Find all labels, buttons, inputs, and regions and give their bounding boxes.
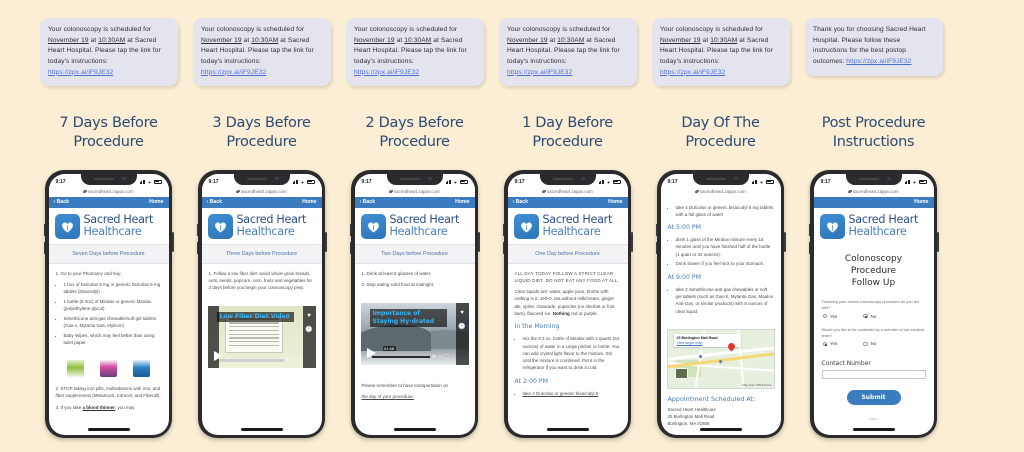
instructions-body-2: 2. STOP taking iron pills, multivitamins… (49, 385, 169, 419)
signal-icon (599, 180, 605, 184)
radio-button-selected[interactable] (863, 314, 868, 319)
brand-line-2: Healthcare (84, 226, 154, 238)
phone-screen-3: 9:17 sacredheart.zappx.com ‹ Back Home (355, 174, 475, 435)
video-side-controls[interactable]: ♥ 🕐 (303, 306, 316, 368)
phone-mockup-1: 9:17 sacredheart.zappx.com ‹ Back Home (45, 170, 172, 438)
home-indicator (700, 428, 742, 431)
supplies-list: 1 box of Dulcolax 5 mg or generic Dulcol… (64, 281, 162, 346)
phone-notch (81, 174, 137, 185)
product-image-miralax (133, 360, 150, 377)
q1-option-yes[interactable]: Yes (823, 314, 838, 319)
battery-icon (460, 180, 468, 184)
q2-option-no[interactable]: No (863, 341, 876, 346)
sms-line-4: Hospital. Please tap the link (67, 47, 151, 54)
q1-no-label: No (871, 314, 877, 319)
sms-line-4: Hospital. Please tap the link (220, 47, 304, 54)
favorite-heart-icon[interactable]: ♥ (305, 311, 314, 320)
sms-bubble: Your colonoscopy is scheduled for Novemb… (193, 18, 331, 86)
sms-line-4: Hospital. Please tap the link (526, 47, 610, 54)
heart-logo-icon (208, 214, 233, 239)
sms-link[interactable]: https://zpx.ai/iF9JE32 (846, 57, 911, 68)
sms-time: 10:30AM (710, 37, 737, 44)
back-button[interactable]: ‹ Back (54, 199, 70, 205)
caption-7-days: 7 Days Before Procedure (32, 114, 185, 152)
step-2: 2. Stop eating solid food at midnight. (362, 281, 468, 288)
column-2-days: Your colonoscopy is scheduled for Novemb… (338, 0, 491, 452)
url-text: sacredheart.zappx.com (547, 189, 593, 194)
caption-line-2: Procedure (491, 133, 644, 152)
step-1: 1. Drink at least 8 glasses of water. (362, 270, 468, 277)
q2-yes-label: Yes (830, 341, 837, 346)
step-2: 2. STOP taking iron pills, multivitamins… (56, 385, 162, 400)
instructions-body: 1. Follow a low fiber diet: avoid whole … (202, 264, 322, 300)
phone-notch (846, 174, 902, 185)
browser-url-bar[interactable]: sacredheart.zappx.com (49, 187, 169, 197)
product-images (49, 354, 169, 385)
signal-icon (293, 180, 299, 184)
video-player-low-fiber[interactable]: Low Fiber Diet Video ♥ 🕐 ⚙ ▭ ⛶ (208, 306, 316, 368)
list-item: 1 box of Dulcolax 5 mg or generic Dulcol… (64, 281, 162, 296)
caption-day-of: Day Of The Procedure (644, 114, 797, 152)
sms-line-2-pre: scheduled for (263, 26, 304, 33)
back-button[interactable]: ‹ Back (513, 199, 529, 205)
wifi-icon (453, 180, 458, 184)
sms-date: November 19 (507, 37, 548, 44)
sms-bubble-wrapper: Thank you for choosing Sacred Heart Hosp… (805, 18, 943, 76)
lock-icon (542, 190, 545, 193)
map-embed[interactable]: 25 Burlington Mall Road View larger map … (667, 329, 775, 389)
home-indicator (88, 428, 130, 431)
sms-bubble-wrapper: Your colonoscopy is scheduled for Novemb… (652, 18, 790, 86)
home-button[interactable]: Home (914, 199, 928, 205)
product-image-simethicone (100, 360, 117, 377)
instructions-body: 1. Drink at least 8 glasses of water. 2.… (355, 264, 475, 297)
home-button[interactable]: Home (302, 199, 316, 205)
brand-header: Sacred Heart Healthcare (508, 208, 628, 244)
video-title: Low Fiber Diet Video (217, 312, 294, 322)
clear-liquid-paragraph: Clear liquids are: water, apple juice, b… (515, 288, 621, 317)
sms-time: 10:30AM (251, 37, 278, 44)
brand-header: Sacred Heart Healthcare (202, 208, 322, 244)
caption-line-1: 7 Days Before (32, 114, 185, 133)
sms-line-3: Please follow these (842, 37, 901, 44)
caption-line-1: Post Procedure (797, 114, 950, 133)
status-time: 9:17 (56, 179, 66, 185)
wifi-icon (759, 180, 764, 184)
sms-bubble-wrapper: Your colonoscopy is scheduled for Novemb… (193, 18, 331, 86)
caption-post-procedure: Post Procedure Instructions (797, 114, 950, 152)
section-title: Seven Days before Procedure (49, 244, 169, 264)
phone-screen-4: 9:17 sacredheart.zappx.com ‹ Back Home (508, 174, 628, 435)
sms-time: 10:30AM (404, 37, 431, 44)
lock-icon (236, 190, 239, 193)
video-player-hydration[interactable]: Importance of Staying Hy-drated ♥ 🕐 01:4… (361, 303, 469, 365)
watch-later-clock-icon[interactable]: 🕐 (458, 322, 467, 331)
browser-url-bar[interactable]: sacredheart.zappx.com (508, 187, 628, 197)
list-item: take 4 Dulcolax or generic bisacodyl 5 m… (676, 204, 774, 219)
sms-line-2-pre: scheduled for (722, 26, 763, 33)
map-poi-dot (699, 355, 703, 359)
sms-date: November 19 (660, 37, 701, 44)
home-button[interactable]: Home (149, 199, 163, 205)
video-side-controls[interactable]: ♥ 🕐 (456, 303, 469, 365)
sms-bubble: Your colonoscopy is scheduled for Novemb… (652, 18, 790, 86)
browser-url-bar[interactable]: sacredheart.zappx.com (661, 187, 781, 197)
video-progress-bar[interactable] (372, 356, 430, 358)
map-street-view-thumbnail[interactable] (675, 368, 688, 379)
sms-link[interactable]: https://zpx.ai/iF9JE32 (354, 68, 419, 79)
phone-mockup-2: 9:17 sacredheart.zappx.com ‹ Back Home (198, 170, 325, 438)
transport-note-line-1: Please remember to have transportation o… (362, 382, 468, 389)
question-1-text: Following your recent colonoscopy proced… (822, 299, 926, 311)
sms-line-4: instructions for the best (813, 47, 884, 54)
sms-time: 10:30AM (98, 37, 125, 44)
brand-line-2: Healthcare (543, 226, 613, 238)
top-list: take 4 Dulcolax or generic bisacodyl 5 m… (676, 204, 774, 219)
cast-icon[interactable]: ▭ (438, 354, 443, 360)
sms-line-1: Thank you for choosing (813, 26, 884, 33)
transport-note: Please remember to have transportation o… (355, 372, 475, 409)
list-item: take 4 Dulcolax or generic bisacodyl 5 (523, 390, 621, 397)
question-2-options[interactable]: Yes No (822, 341, 926, 346)
home-button[interactable]: Home (608, 199, 622, 205)
heart-logo-icon (514, 214, 539, 239)
caption-1-day: 1 Day Before Procedure (491, 114, 644, 152)
q2-no-label: No (871, 341, 877, 346)
battery-icon (307, 180, 315, 184)
home-indicator (241, 428, 283, 431)
phone-mockup-3: 9:17 sacredheart.zappx.com ‹ Back Home (351, 170, 478, 438)
url-text: sacredheart.zappx.com (700, 189, 746, 194)
radio-button[interactable] (863, 342, 868, 347)
brand-header: Sacred Heart Healthcare (814, 208, 934, 244)
cast-icon[interactable]: ▭ (292, 357, 297, 363)
q1-yes-label: Yes (830, 314, 837, 319)
contact-number-input[interactable] (822, 370, 926, 379)
heading-at-9pm: At 9:00 PM (668, 273, 774, 283)
column-3-days: Your colonoscopy is scheduled for Novemb… (185, 0, 338, 452)
heading-at-2pm: At 2:00 PM (515, 377, 621, 387)
lock-icon (695, 190, 698, 193)
q1-option-no[interactable]: No (863, 314, 876, 319)
sms-line-1: Your colonoscopy is (201, 26, 261, 33)
caption-2-days: 2 Days Before Procedure (338, 114, 491, 152)
battery-icon (613, 180, 621, 184)
video-timestamp: 01:48 (383, 346, 396, 351)
caption-line-2: Procedure (32, 133, 185, 152)
list-item: mix the 8.3 oz. bottle of Miralax with 2… (523, 335, 621, 371)
status-time: 9:17 (821, 179, 831, 185)
column-1-day: Your colonoscopy is scheduled for Novemb… (491, 0, 644, 452)
sms-line-4: Hospital. Please tap the link (373, 47, 457, 54)
instructions-body: 1. Go to your Pharmacy and buy: 1 box of… (49, 264, 169, 355)
phone-mockup-4: 9:17 sacredheart.zappx.com ‹ Back Home (504, 170, 631, 438)
sms-line-1: Your colonoscopy is (48, 26, 108, 33)
form-title-line-2: Follow Up (822, 277, 926, 289)
phone-screen-6: 9:17 sacredheart.zappx.com Home (814, 174, 934, 435)
clear-liquid-warning: ALL DAY TODAY FOLLOW A STRICT CLEAR LIQU… (515, 270, 621, 285)
sms-bubble: Your colonoscopy is scheduled for Novemb… (499, 18, 637, 86)
list-item: 1 bottle (8.3oz) of Miralax or generic M… (64, 298, 162, 313)
caption-line-2: Procedure (644, 133, 797, 152)
map-attribution: Map data ©2019 Terms (742, 383, 771, 387)
heart-logo-icon (820, 214, 845, 239)
battery-icon (766, 180, 774, 184)
transport-note-line-2: the day of your procedure. (362, 393, 468, 400)
instructions-body: take 4 Dulcolax or generic bisacodyl 5 m… (661, 197, 781, 323)
sms-bubble: Your colonoscopy is scheduled for Novemb… (346, 18, 484, 86)
instructions-body: ALL DAY TODAY FOLLOW A STRICT CLEAR LIQU… (508, 264, 628, 405)
question-2: Would you like to be contacted by a memb… (814, 327, 934, 347)
caption-line-1: 1 Day Before (491, 114, 644, 133)
back-button[interactable]: ‹ Back (207, 199, 223, 205)
sms-link[interactable]: https://zpx.ai/iF9JE32 (48, 68, 113, 79)
phone-notch (693, 174, 749, 185)
sms-link[interactable]: https://zpx.ai/iF9JE32 (507, 68, 572, 79)
caption-line-2: Procedure (185, 133, 338, 152)
nine-pm-list: take 2 Simethicone anti-gas chewables or… (676, 286, 774, 315)
blood-thinner-link[interactable]: a blood thinner (83, 405, 116, 410)
app-nav-bar: ‹ Back Home (49, 197, 169, 208)
caption-line-2: Procedure (338, 133, 491, 152)
list-item: Drink slower if you feel sick to your st… (676, 260, 774, 267)
caption-line-2: Instructions (797, 133, 950, 152)
sms-line-2-pre: scheduled for (416, 26, 457, 33)
sms-line-2-pre: scheduled for (569, 26, 610, 33)
sms-line-4: Hospital. Please tap the link (679, 47, 763, 54)
status-time: 9:17 (362, 179, 372, 185)
question-2-text: Would you like to be contacted by a memb… (822, 327, 926, 339)
home-button[interactable]: Home (455, 199, 469, 205)
question-1: Following your recent colonoscopy proced… (814, 299, 934, 319)
list-item: take 2 Simethicone anti-gas chewables or… (676, 286, 774, 315)
more-options-icon[interactable]: ⋮ (451, 354, 456, 360)
app-nav-bar: ‹ Back Home (355, 197, 475, 208)
contact-number-label: Contact Number (814, 354, 934, 370)
step-1: 1. Go to your Pharmacy and buy: (56, 270, 162, 277)
sms-bubble-wrapper: Your colonoscopy is scheduled for Novemb… (40, 18, 178, 86)
url-text: sacredheart.zappx.com (394, 189, 440, 194)
sms-date: November 19 (354, 37, 395, 44)
step-3: 3. If you take a blood thinner, you may (56, 404, 162, 411)
list-item: Simethicone anti-gas chewable/soft gel t… (64, 315, 162, 330)
q2-option-yes[interactable]: Yes (823, 341, 838, 346)
wifi-icon (606, 180, 611, 184)
phone-notch (234, 174, 290, 185)
fullscreen-icon[interactable]: ⛶ (299, 357, 303, 363)
form-title-line-1: Colonoscopy Procedure (822, 253, 926, 277)
sms-bubble-wrapper: Your colonoscopy is scheduled for Novemb… (346, 18, 484, 86)
url-text: sacredheart.zappx.com (853, 189, 899, 194)
phone-mockup-6: 9:17 sacredheart.zappx.com Home (810, 170, 937, 438)
question-1-options[interactable]: Yes No (822, 314, 926, 319)
morning-list: mix the 8.3 oz. bottle of Miralax with 2… (523, 335, 621, 371)
afternoon-list: take 4 Dulcolax or generic bisacodyl 5 (523, 390, 621, 397)
sms-date: November 19 (201, 37, 242, 44)
sms-date: November 19 (48, 37, 89, 44)
home-indicator (853, 428, 895, 431)
brand-header: Sacred Heart Healthcare (49, 208, 169, 244)
radio-button[interactable] (823, 314, 828, 319)
section-title: Two Days before Procedure (355, 244, 475, 264)
caption-3-days: 3 Days Before Procedure (185, 114, 338, 152)
settings-gear-icon[interactable]: ⚙ (432, 354, 436, 360)
heading-at-5pm: At 5:00 PM (668, 223, 774, 233)
phone-screen-5: 9:17 sacredheart.zappx.com take 4 Dulcol… (661, 174, 781, 435)
step-1: 1. Follow a low fiber diet: avoid whole … (209, 270, 315, 292)
appointment-facility: Sacred Heart Healthcare (668, 406, 774, 413)
phone-notch (387, 174, 443, 185)
lock-icon (83, 190, 86, 193)
sms-line-1: Your colonoscopy is (354, 26, 414, 33)
radio-button-selected[interactable] (823, 342, 828, 347)
sms-bubble-wrapper: Your colonoscopy is scheduled for Novemb… (499, 18, 637, 86)
battery-icon (919, 180, 927, 184)
settings-gear-icon[interactable]: ⚙ (286, 357, 290, 363)
phone-screen-1: 9:17 sacredheart.zappx.com ‹ Back Home (49, 174, 169, 435)
phone-mockup-5: 9:17 sacredheart.zappx.com take 4 Dulcol… (657, 170, 784, 438)
phone-notch (540, 174, 596, 185)
appointment-city: Burlington, MA 01805 (668, 420, 774, 427)
wifi-icon (147, 180, 152, 184)
zappx-footer-logo: zappx (814, 417, 934, 421)
sms-bubble: Thank you for choosing Sacred Heart Hosp… (805, 18, 943, 76)
signal-icon (752, 180, 758, 184)
list-item: Baby Wipes, which may feel better than u… (64, 332, 162, 347)
browser-url-bar[interactable]: sacredheart.zappx.com (202, 187, 322, 197)
list-item: drink 1 glass of the Miralax mixture eve… (676, 236, 774, 258)
browser-url-bar[interactable]: sacredheart.zappx.com (814, 187, 934, 197)
battery-icon (154, 180, 162, 184)
product-image-dulcolax (67, 360, 84, 377)
column-day-of: Your colonoscopy is scheduled for Novemb… (644, 0, 797, 452)
browser-url-bar[interactable]: sacredheart.zappx.com (355, 187, 475, 197)
sms-line-1: Your colonoscopy is (660, 26, 720, 33)
heart-logo-icon (55, 214, 80, 239)
brand-line-2: Healthcare (390, 226, 460, 238)
signal-icon (140, 180, 146, 184)
poster-canvas: Your colonoscopy is scheduled for Novemb… (0, 0, 1024, 452)
sms-link[interactable]: https://zpx.ai/iF9JE32 (201, 68, 266, 79)
wifi-icon (912, 180, 917, 184)
sms-link[interactable]: https://zpx.ai/iF9JE32 (660, 68, 725, 79)
video-controls[interactable]: ⚙ ▭ ⛶ (219, 357, 303, 363)
home-indicator (547, 428, 589, 431)
caption-line-1: 2 Days Before (338, 114, 491, 133)
brand-line-2: Healthcare (237, 226, 307, 238)
appointment-heading: Appointment Scheduled At: (668, 395, 774, 403)
section-title: One Day before Procedure (508, 244, 628, 264)
heading-in-the-morning: In the Morning (515, 322, 621, 332)
form-title: Colonoscopy Procedure Follow Up (814, 244, 934, 299)
video-title: Importance of Staying Hy-drated (370, 309, 447, 327)
heart-logo-icon (361, 214, 386, 239)
app-nav-bar: Home (814, 197, 934, 208)
app-nav-bar: ‹ Back Home (202, 197, 322, 208)
column-post-procedure: Thank you for choosing Sacred Heart Hosp… (797, 0, 950, 452)
brand-header: Sacred Heart Healthcare (355, 208, 475, 244)
status-time: 9:17 (668, 179, 678, 185)
url-text: sacredheart.zappx.com (88, 189, 134, 194)
app-nav-bar: ‹ Back Home (508, 197, 628, 208)
appointment-block: Appointment Scheduled At: Sacred Heart H… (661, 389, 781, 430)
phone-screen-2: 9:17 sacredheart.zappx.com ‹ Back Home (202, 174, 322, 435)
watch-later-clock-icon[interactable]: 🕐 (305, 325, 314, 334)
signal-icon (905, 180, 911, 184)
sms-bubble: Your colonoscopy is scheduled for Novemb… (40, 18, 178, 86)
url-text: sacredheart.zappx.com (241, 189, 287, 194)
submit-button[interactable]: Submit (847, 390, 901, 404)
video-progress-bar[interactable] (219, 359, 284, 361)
lock-icon (848, 190, 851, 193)
status-time: 9:17 (209, 179, 219, 185)
sms-line-2-pre: scheduled for (110, 26, 151, 33)
lock-icon (389, 190, 392, 193)
column-7-days: Your colonoscopy is scheduled for Novemb… (32, 0, 185, 452)
wifi-icon (300, 180, 305, 184)
back-button[interactable]: ‹ Back (360, 199, 376, 205)
sms-line-1: Your colonoscopy is (507, 26, 567, 33)
appointment-street: 25 Burlington Mall Road (668, 413, 774, 420)
video-controls[interactable]: ⚙ ▭ ⛶ ⋮ (372, 354, 456, 360)
favorite-heart-icon[interactable]: ♥ (458, 308, 467, 317)
sms-time: 10:30AM (557, 37, 584, 44)
five-pm-list: drink 1 glass of the Miralax mixture eve… (676, 236, 774, 268)
brand-line-2: Healthcare (849, 226, 919, 238)
caption-line-1: 3 Days Before (185, 114, 338, 133)
caption-line-1: Day Of The (644, 114, 797, 133)
home-indicator (394, 428, 436, 431)
fullscreen-icon[interactable]: ⛶ (445, 354, 449, 360)
status-time: 9:17 (515, 179, 525, 185)
signal-icon (446, 180, 452, 184)
section-title: Three Days before Procedure (202, 244, 322, 264)
